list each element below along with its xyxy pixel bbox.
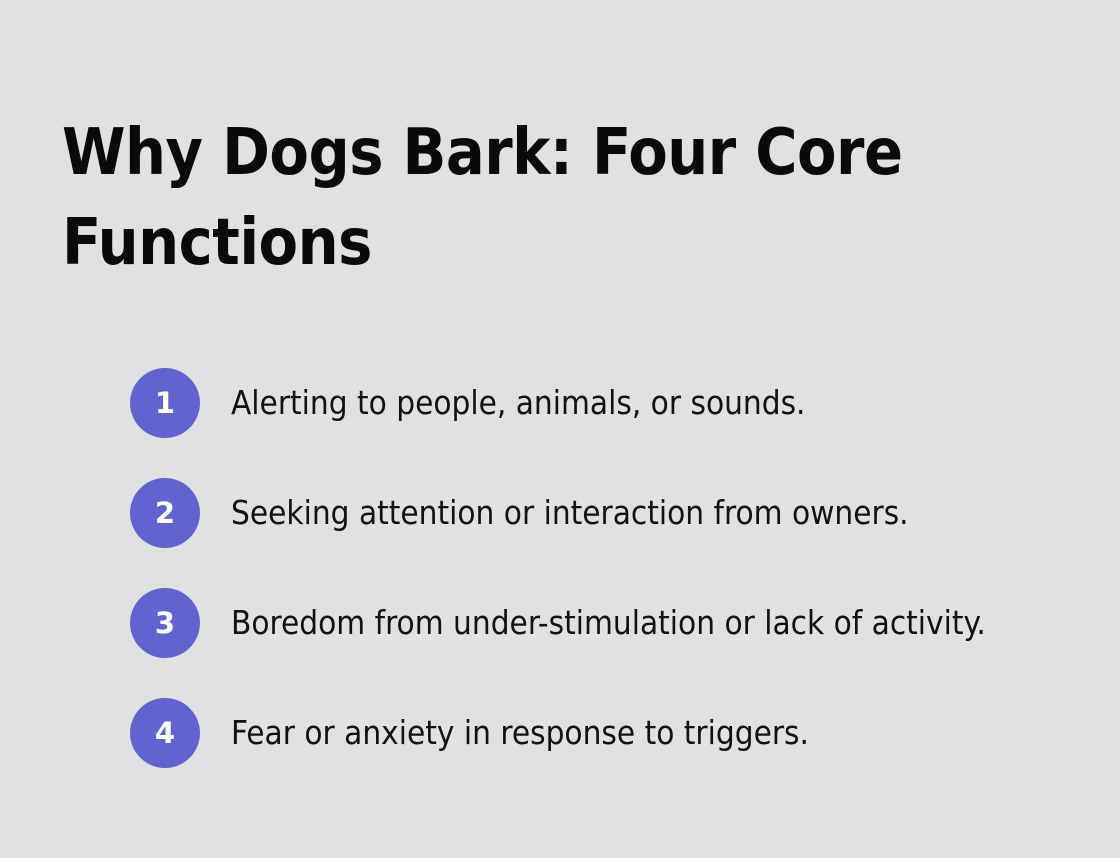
list-item: 1 Alerting to people, animals, or sounds… xyxy=(130,368,1050,438)
number-badge-4: 4 xyxy=(130,698,200,768)
list-item-label: Boredom from under-stimulation or lack o… xyxy=(231,603,986,643)
number-badge-3: 3 xyxy=(130,588,200,658)
numbered-points-list: 1 Alerting to people, animals, or sounds… xyxy=(130,368,1050,768)
list-item: 4 Fear or anxiety in response to trigger… xyxy=(130,698,1050,768)
list-item-label: Fear or anxiety in response to triggers. xyxy=(231,713,809,753)
number-badge-2: 2 xyxy=(130,478,200,548)
number-badge-1: 1 xyxy=(130,368,200,438)
list-item-label: Seeking attention or interaction from ow… xyxy=(231,493,909,533)
infographic-slide: Why Dogs Bark: Four Core Functions 1 Ale… xyxy=(0,0,1120,858)
list-item-label: Alerting to people, animals, or sounds. xyxy=(231,383,806,423)
page-title: Why Dogs Bark: Four Core Functions xyxy=(62,108,942,288)
list-item: 3 Boredom from under-stimulation or lack… xyxy=(130,588,1050,658)
list-item: 2 Seeking attention or interaction from … xyxy=(130,478,1050,548)
